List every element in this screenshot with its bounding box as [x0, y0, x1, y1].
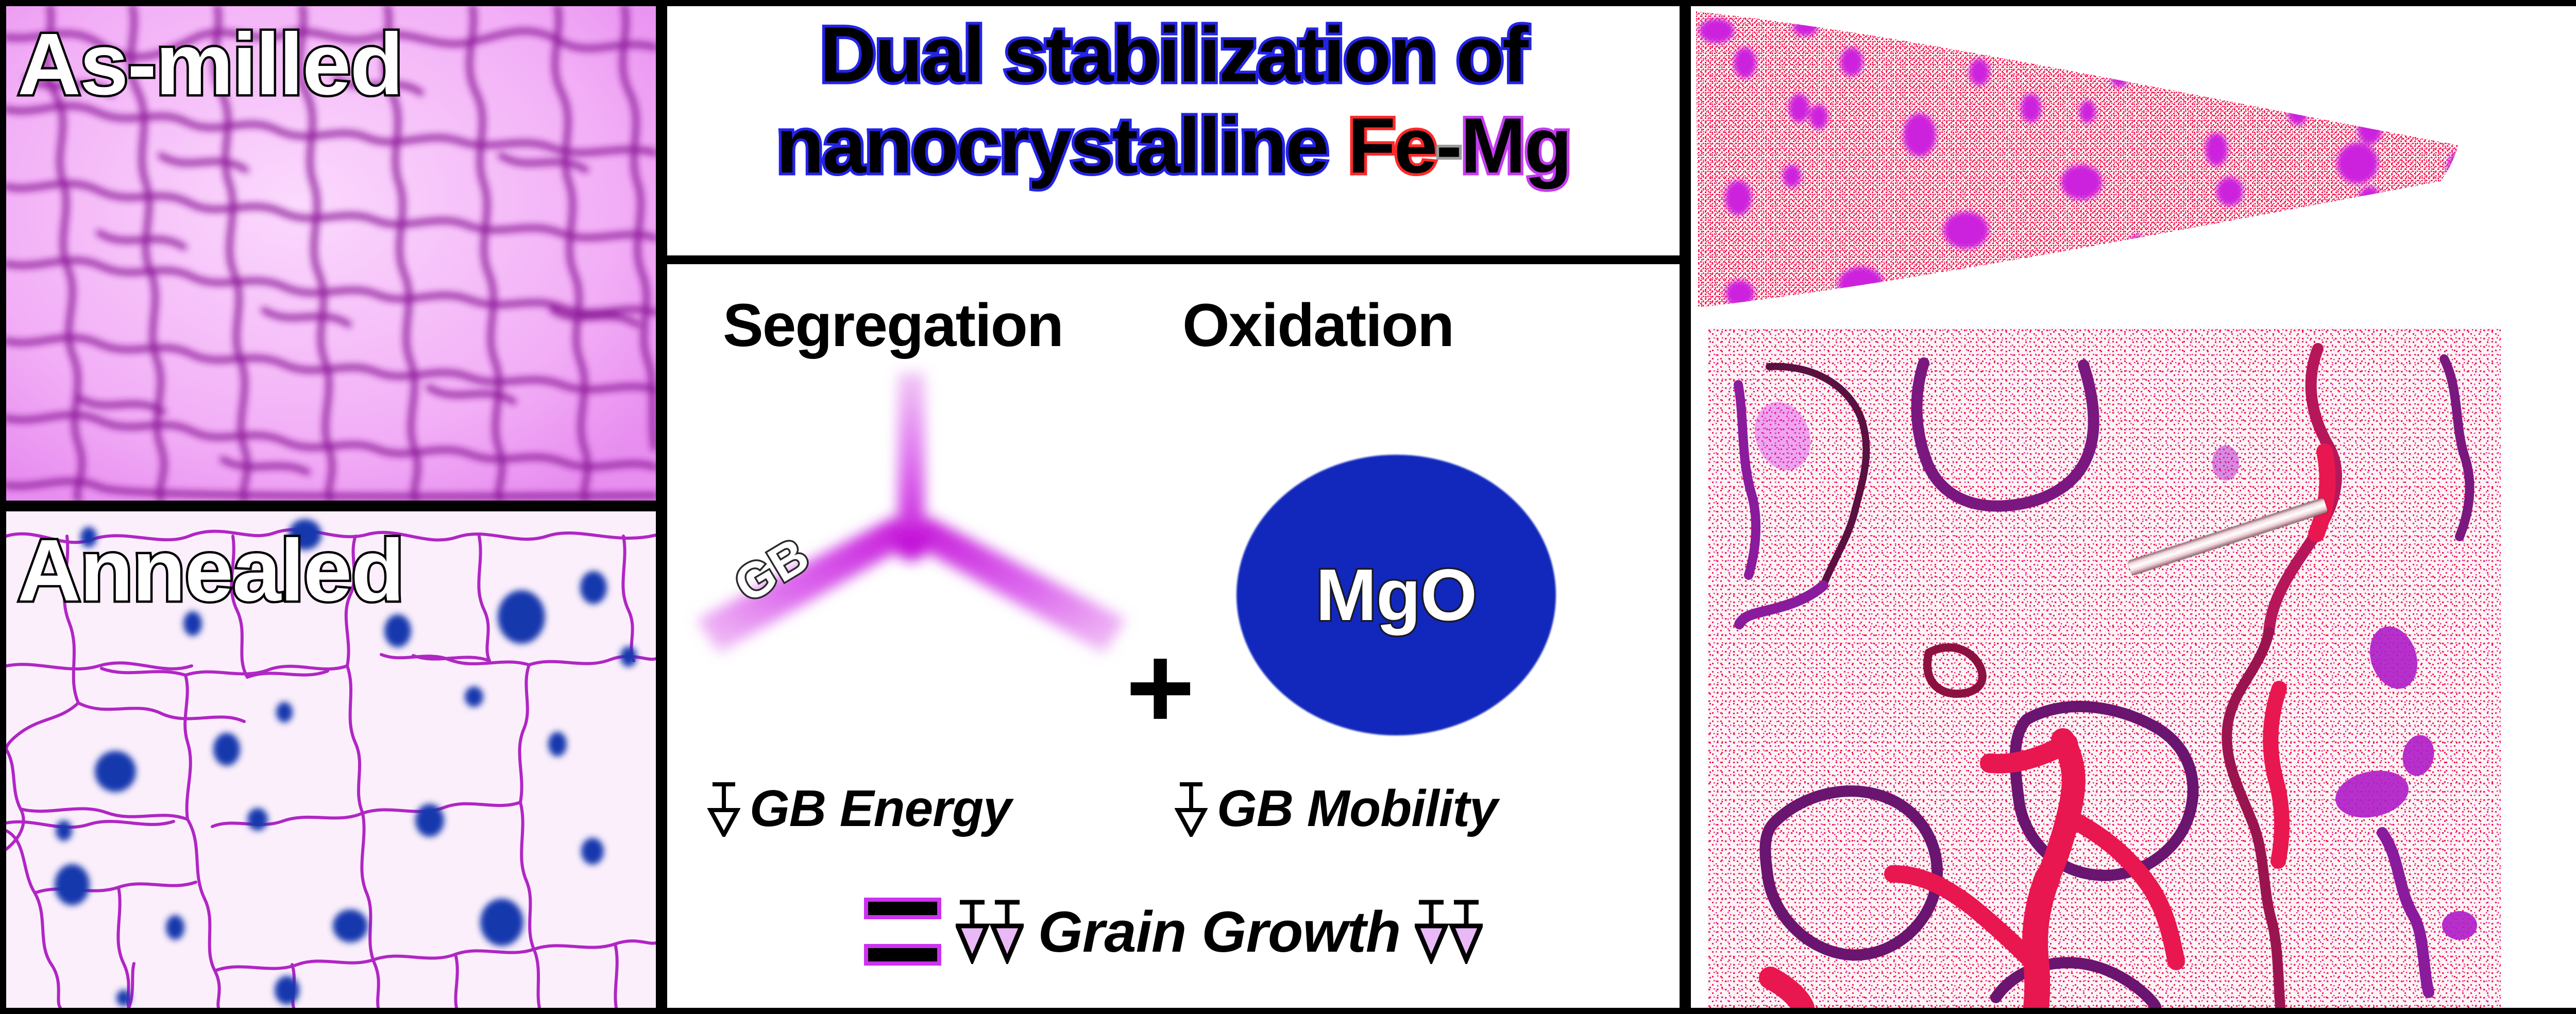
effect-gb-energy-label: GB Energy [750, 779, 1011, 838]
effect-gb-mobility: GB Mobility [1175, 779, 1498, 838]
gb-triple-junction-svg [683, 362, 1146, 671]
equals-bar-bottom [864, 944, 941, 966]
title-dash: - [1436, 102, 1461, 190]
as-milled-panel-label: As-milled [18, 21, 402, 108]
center-column-schematic: Dual stabilization of nanocrystalline Fe… [662, 0, 1685, 1014]
apt-slice-svg [1707, 328, 2501, 1008]
left-column-micrographs: As-milled [0, 0, 662, 1014]
right-column-apt [1685, 0, 2576, 1014]
graphical-abstract-figure: As-milled [0, 0, 2576, 1014]
plus-operator: + [1126, 640, 1195, 735]
mechanism-area: Segregation Oxidation [667, 264, 1680, 1008]
effect-gb-mobility-label: GB Mobility [1217, 779, 1498, 838]
double-down-arrow-filled-icon-right [1415, 899, 1483, 964]
as-milled-micrograph-panel: As-milled [6, 6, 656, 501]
title-line-1: Dual stabilization of [667, 15, 1680, 94]
down-arrow-outline-icon [707, 781, 740, 837]
title-box: Dual stabilization of nanocrystalline Fe… [667, 6, 1680, 255]
equals-sign [864, 898, 941, 966]
result-row: Grain Growth [667, 898, 1680, 966]
oxidation-heading: Oxidation [1182, 295, 1453, 356]
down-arrow-outline-icon [1175, 781, 1208, 837]
annealed-panel-label: Annealed [18, 527, 403, 614]
apt-needle-svg [1691, 6, 2515, 315]
segregation-heading: Segregation [723, 295, 1063, 356]
title-element-fe: Fe [1348, 102, 1436, 190]
title-element-mg: Mg [1461, 102, 1570, 190]
title-line-1-text: Dual stabilization of [820, 11, 1527, 98]
title-line-2: nanocrystalline Fe-Mg [667, 107, 1680, 185]
double-down-arrow-filled-icon-left [956, 899, 1024, 964]
apt-slice-map [1707, 328, 2501, 1008]
title-line-2-prefix: nanocrystalline [776, 102, 1348, 190]
equals-bar-top [864, 898, 941, 919]
result-label: Grain Growth [1038, 899, 1401, 965]
apt-needle-reconstruction [1691, 6, 2515, 315]
right-panel-inner [1691, 6, 2576, 1008]
annealed-micrograph-panel: Annealed [6, 511, 656, 1008]
mgo-label: MgO [1236, 455, 1556, 735]
grain-boundary-triple-junction: GB [683, 362, 1146, 671]
title-mechanism-divider [667, 255, 1680, 264]
effect-gb-energy: GB Energy [707, 779, 1011, 838]
center-panel-inner: Dual stabilization of nanocrystalline Fe… [667, 6, 1680, 1008]
